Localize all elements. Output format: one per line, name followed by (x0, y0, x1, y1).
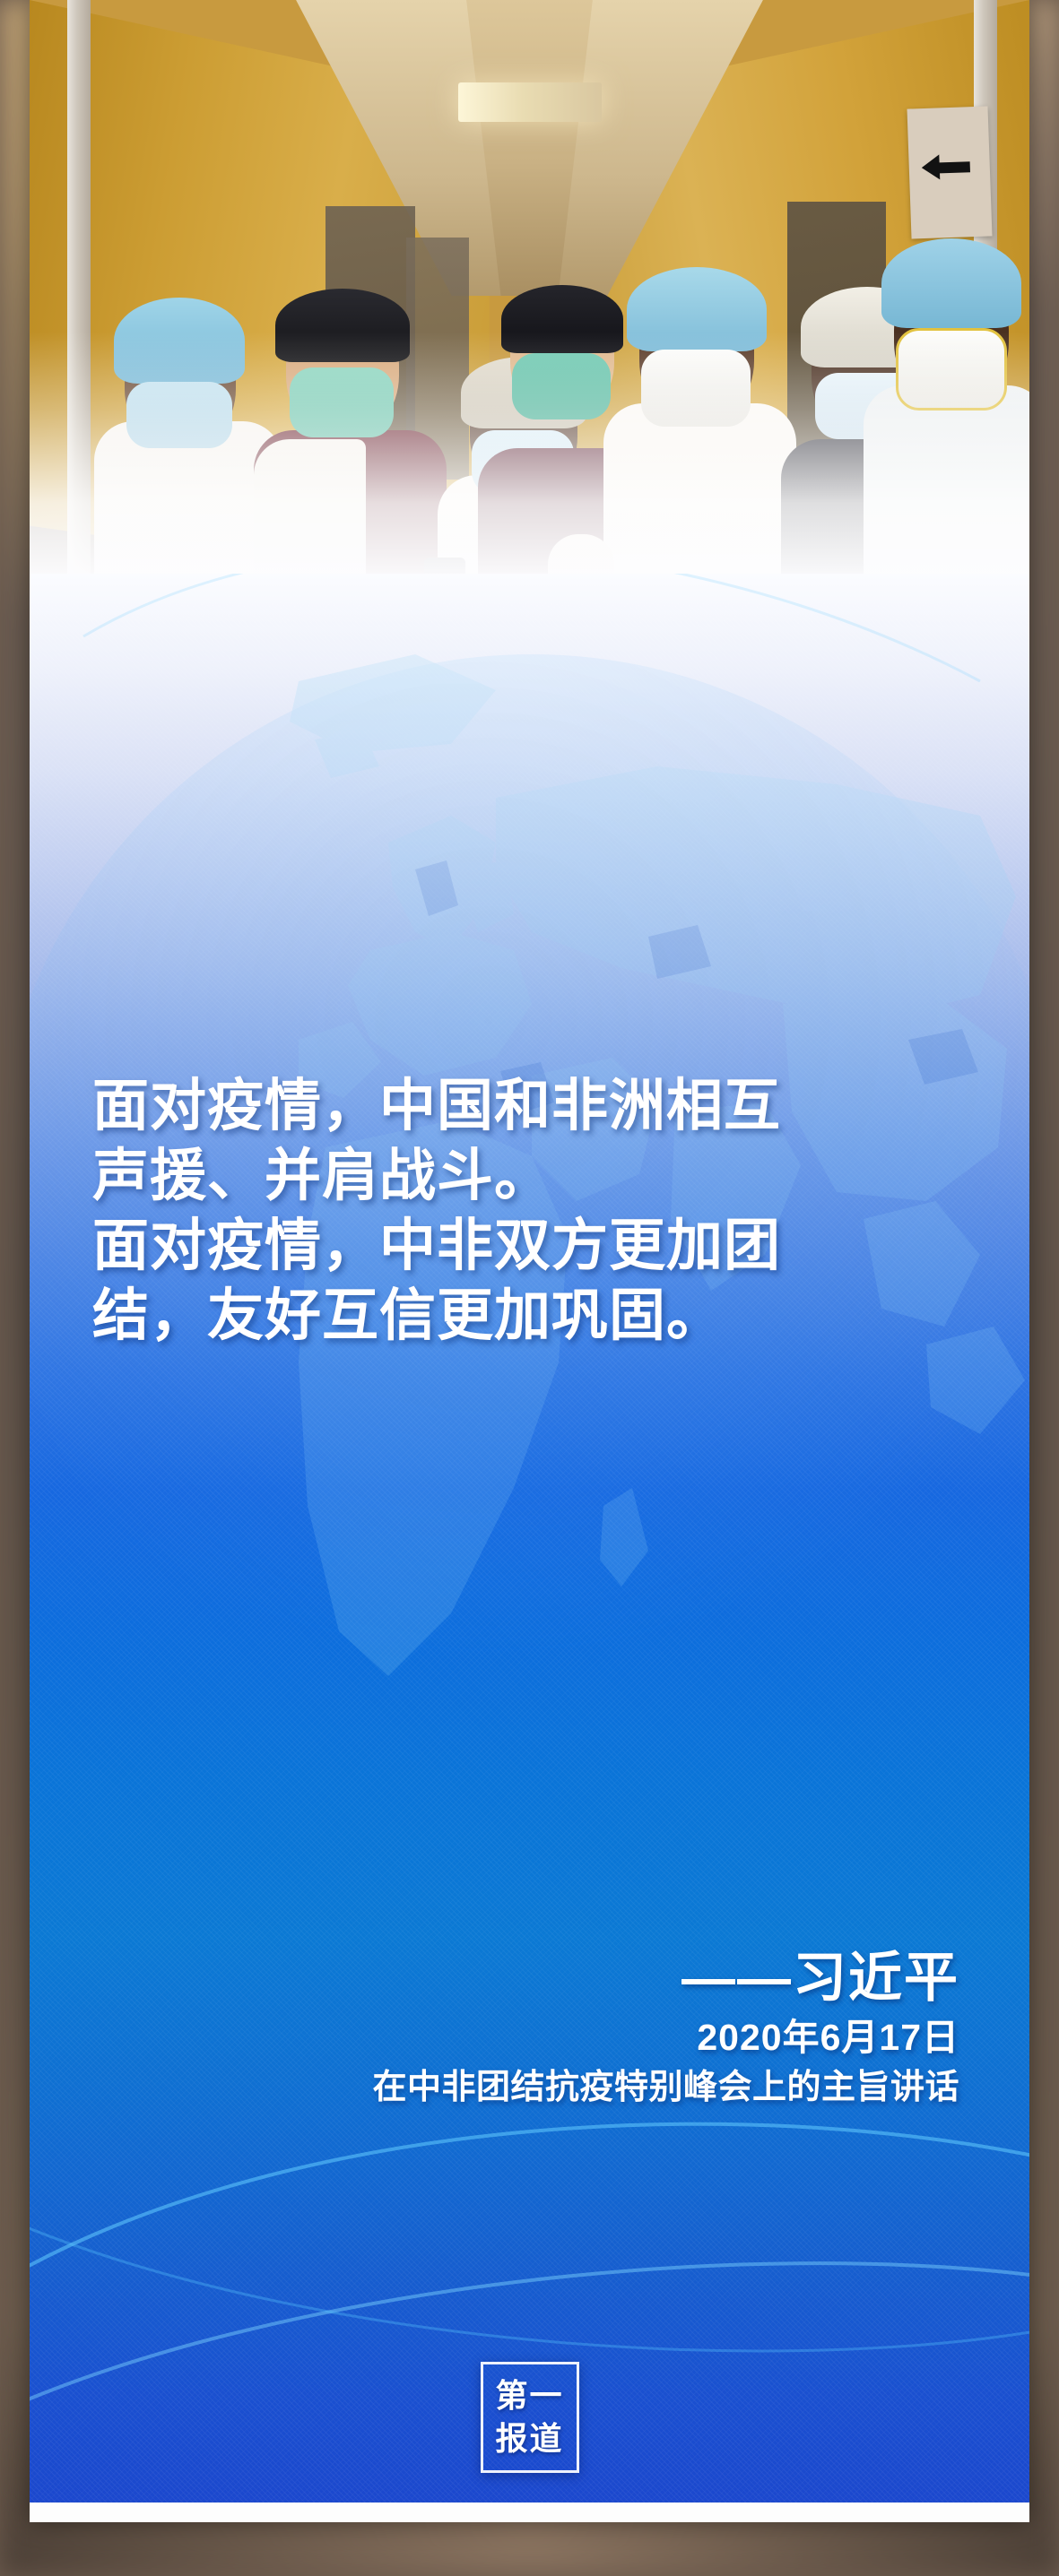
quote-date: 2020年6月17日 (30, 2011, 959, 2063)
quote-line-1: 面对疫情，中国和非洲相互 (92, 1071, 967, 1141)
brand-logo[interactable]: 第一 报道 (481, 2362, 579, 2473)
poster-canvas: 面对疫情，中国和非洲相互 声援、并肩战斗。 面对疫情，中非双方更加团 结，友好互… (30, 0, 1029, 2522)
quote-block: 面对疫情，中国和非洲相互 声援、并肩战斗。 面对疫情，中非双方更加团 结，友好互… (30, 1071, 1029, 1351)
ceiling-lamp-icon (458, 82, 602, 122)
surgical-cap-icon (881, 238, 1021, 328)
attribution-block: ——习近平 2020年6月17日 在中非团结抗疫特别峰会上的主旨讲话 (30, 1945, 1029, 2112)
header-photo (30, 0, 1029, 627)
quote-line-2: 声援、并肩战斗。 (92, 1141, 967, 1211)
left-arrow-icon (921, 153, 970, 180)
logo-line-1: 第一 (495, 2374, 563, 2417)
quote-author: ——习近平 (30, 1945, 959, 2011)
corridor-scene (30, 0, 1029, 627)
quote-line-3: 面对疫情，中非双方更加团 (92, 1211, 967, 1281)
quote-line-4: 结，友好互信更加巩固。 (92, 1281, 967, 1351)
logo-line-2: 报道 (495, 2417, 563, 2460)
bottom-white-strip (30, 2503, 1029, 2522)
quote-event: 在中非团结抗疫特别峰会上的主旨讲话 (30, 2063, 959, 2112)
